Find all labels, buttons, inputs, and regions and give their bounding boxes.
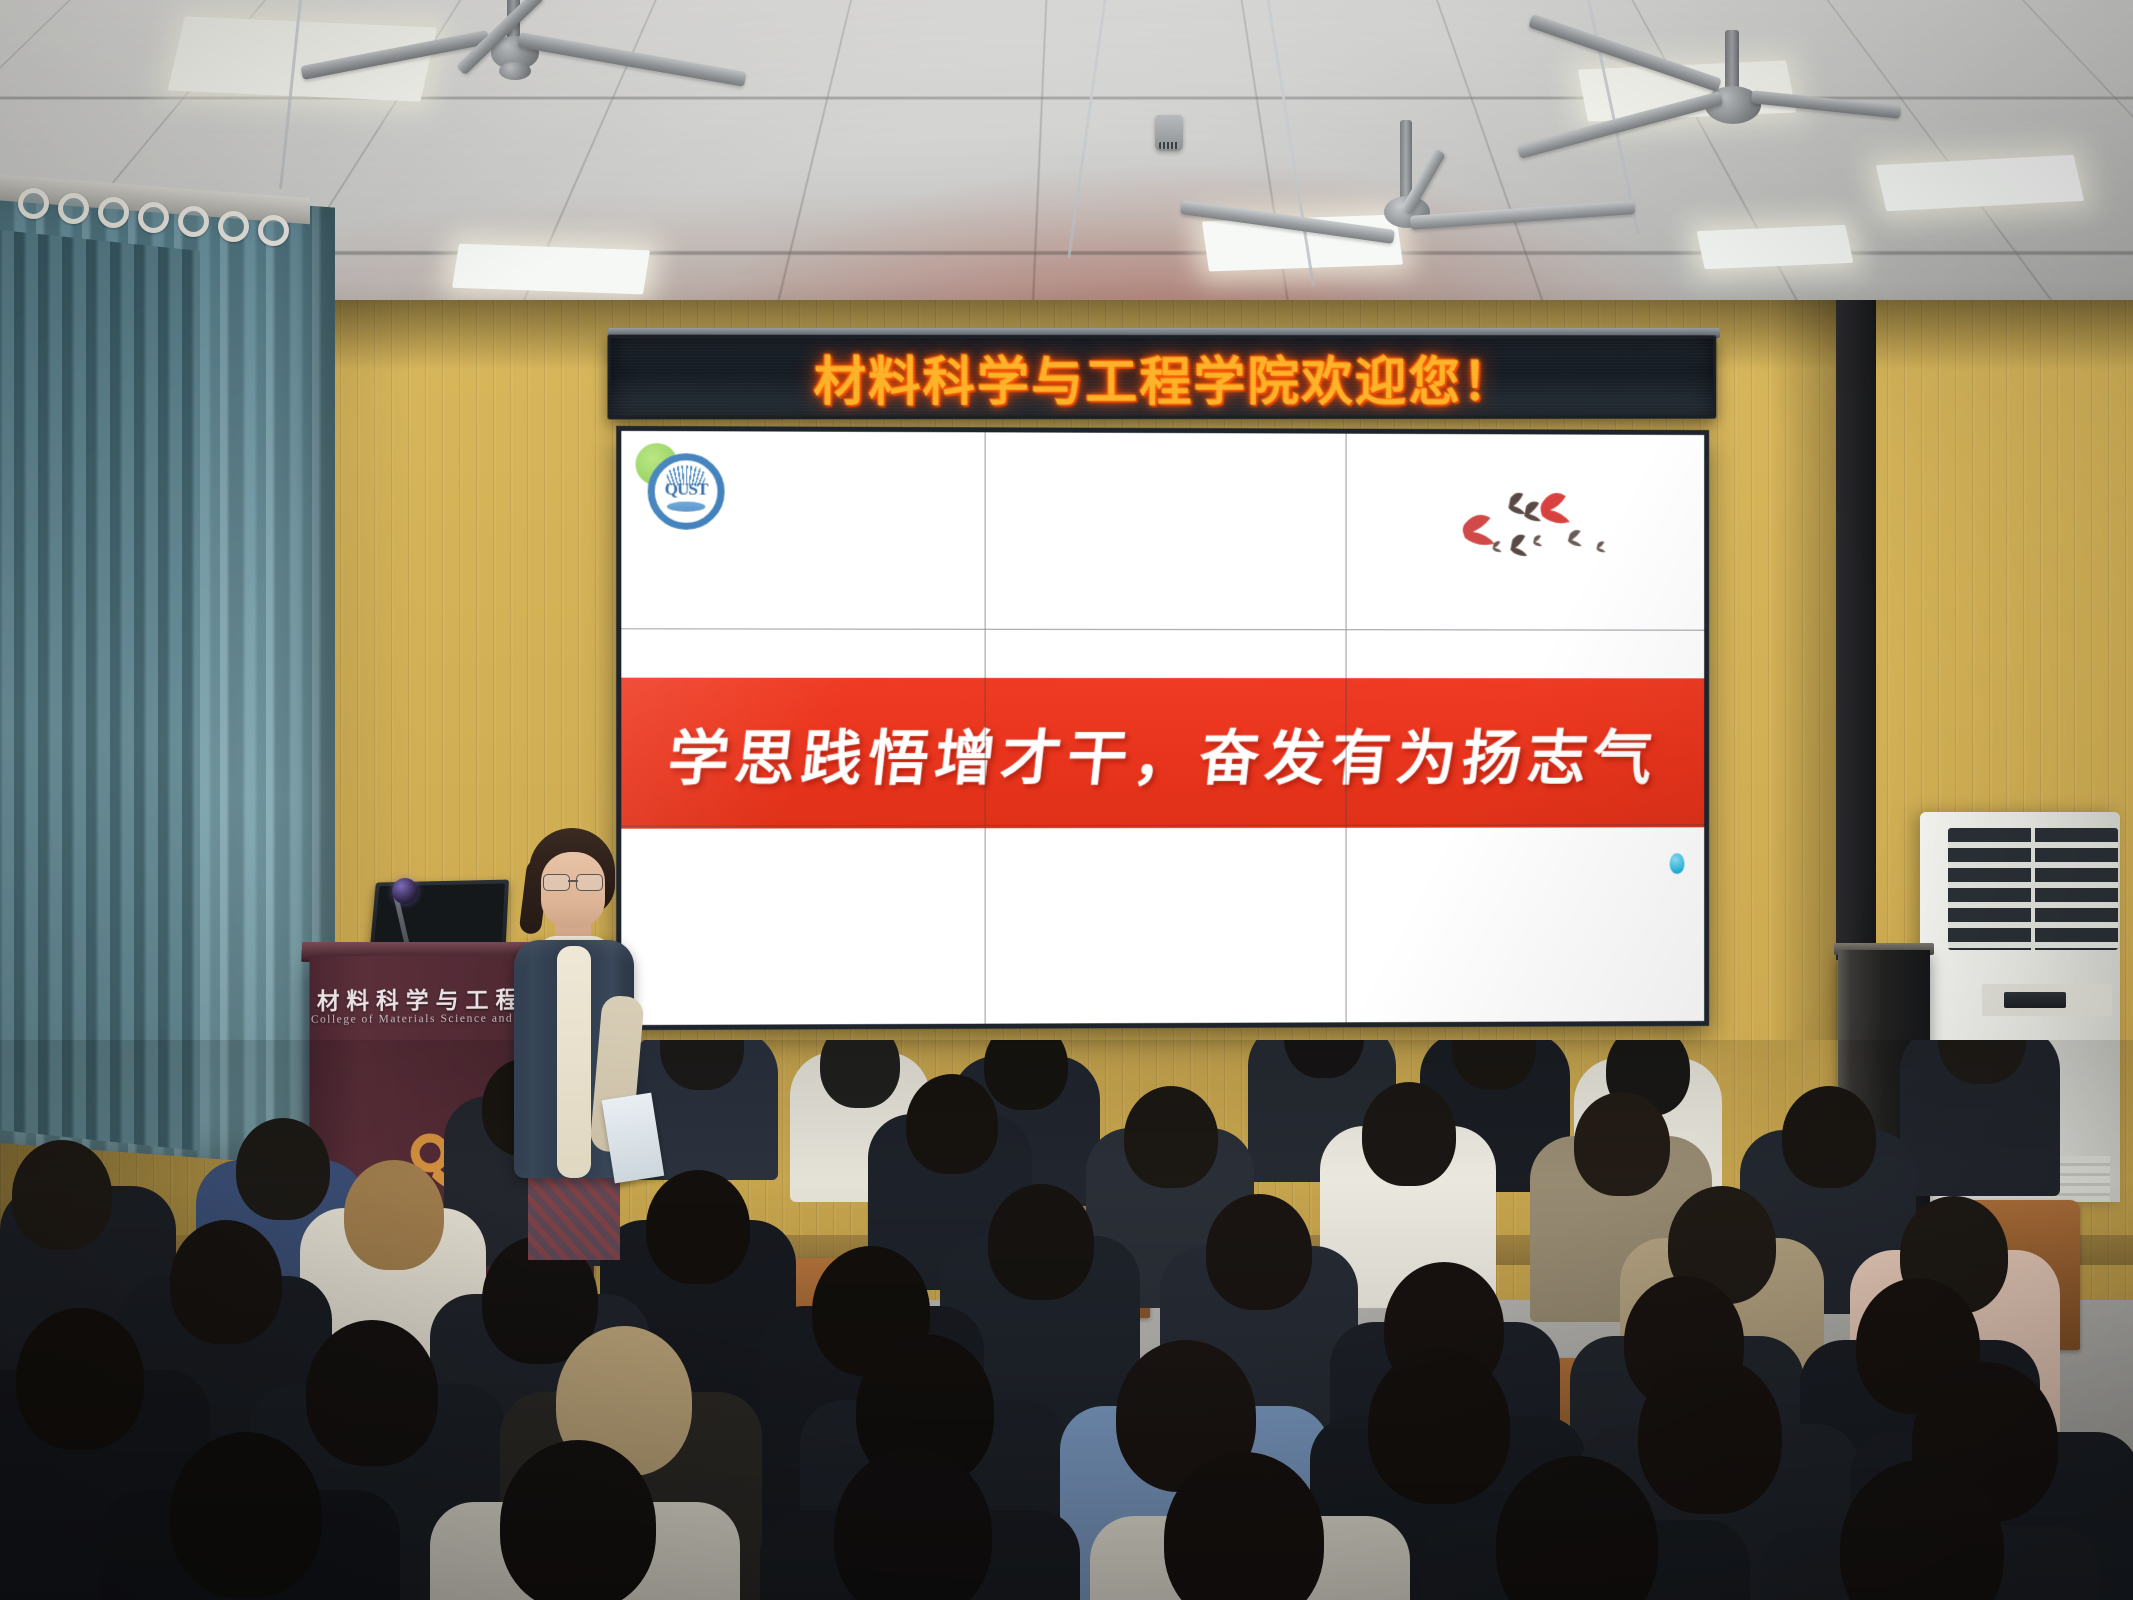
qust-seal-icon: QUST xyxy=(644,449,729,534)
curtain-ring-icon xyxy=(218,211,249,242)
window-curtain-secondary xyxy=(0,229,200,1151)
audience-head xyxy=(820,1040,900,1108)
lecture-hall-photo: 材料科学与工程学院欢迎您！ QUST xyxy=(0,0,2133,1600)
audience-head xyxy=(1782,1086,1876,1188)
audience-head xyxy=(906,1074,998,1174)
ceiling-light-panel xyxy=(452,244,650,295)
audience-head xyxy=(306,1320,438,1466)
marquee-text: 材料科学与工程学院欢迎您！ xyxy=(814,339,1516,414)
curtain-ring-icon xyxy=(98,197,129,228)
curtain-ring-icon xyxy=(258,215,289,246)
video-wall-panel xyxy=(1347,826,1705,1023)
smoke-detector-icon xyxy=(1155,115,1183,151)
video-wall-panel xyxy=(621,827,985,1026)
side-door xyxy=(1836,300,1876,960)
audience-head xyxy=(646,1170,750,1284)
seal-abbreviation: QUST xyxy=(665,479,708,499)
audience-seating xyxy=(0,1040,2133,1600)
speaker-skirt xyxy=(528,1164,620,1260)
curtain-ring-icon xyxy=(18,188,49,219)
ac-display xyxy=(2004,992,2066,1008)
video-wall-panel xyxy=(986,826,1347,1024)
audience-head xyxy=(988,1184,1094,1300)
seal-ring: QUST xyxy=(648,453,725,530)
presenter-laptop[interactable] xyxy=(370,880,509,951)
audience-head xyxy=(500,1440,656,1600)
audience-head xyxy=(170,1432,322,1598)
slide-slogan-band: 学思践悟增才干，奋发有为扬志气 xyxy=(621,677,1704,828)
audience-head xyxy=(1574,1092,1670,1196)
video-wall-display[interactable]: QUST 学思践悟增才 xyxy=(616,426,1709,1030)
ac-grille xyxy=(1948,828,2118,950)
audience-head xyxy=(1362,1082,1456,1186)
curtain-ring-icon xyxy=(58,193,89,224)
video-wall-panel xyxy=(986,432,1347,630)
eyeglasses-icon xyxy=(541,874,605,890)
audience-head xyxy=(344,1160,444,1270)
audience-head xyxy=(984,1040,1068,1110)
curtain-ring-icon xyxy=(138,202,169,233)
audience-head xyxy=(12,1140,112,1250)
slide-slogan-text: 学思践悟增才干，奋发有为扬志气 xyxy=(664,709,1663,797)
audience-head xyxy=(1638,1356,1782,1514)
microphone-icon[interactable] xyxy=(392,878,418,904)
ac-control-panel[interactable] xyxy=(1982,984,2112,1016)
ceiling-light-panel xyxy=(1697,225,1854,270)
audience-head xyxy=(236,1118,330,1220)
led-marquee-banner: 材料科学与工程学院欢迎您！ xyxy=(607,335,1716,420)
audience-head xyxy=(1206,1194,1312,1310)
audience-head xyxy=(170,1220,282,1344)
audience-head xyxy=(1124,1086,1218,1188)
curtain-ring-icon xyxy=(178,206,209,237)
audience-head xyxy=(16,1308,144,1450)
cyan-dot-icon xyxy=(1670,853,1685,874)
audience-head xyxy=(1368,1348,1510,1504)
flying-birds-icon xyxy=(1449,482,1627,574)
video-wall-screen: QUST 学思践悟增才 xyxy=(621,431,1704,1025)
seal-wave xyxy=(667,501,705,511)
